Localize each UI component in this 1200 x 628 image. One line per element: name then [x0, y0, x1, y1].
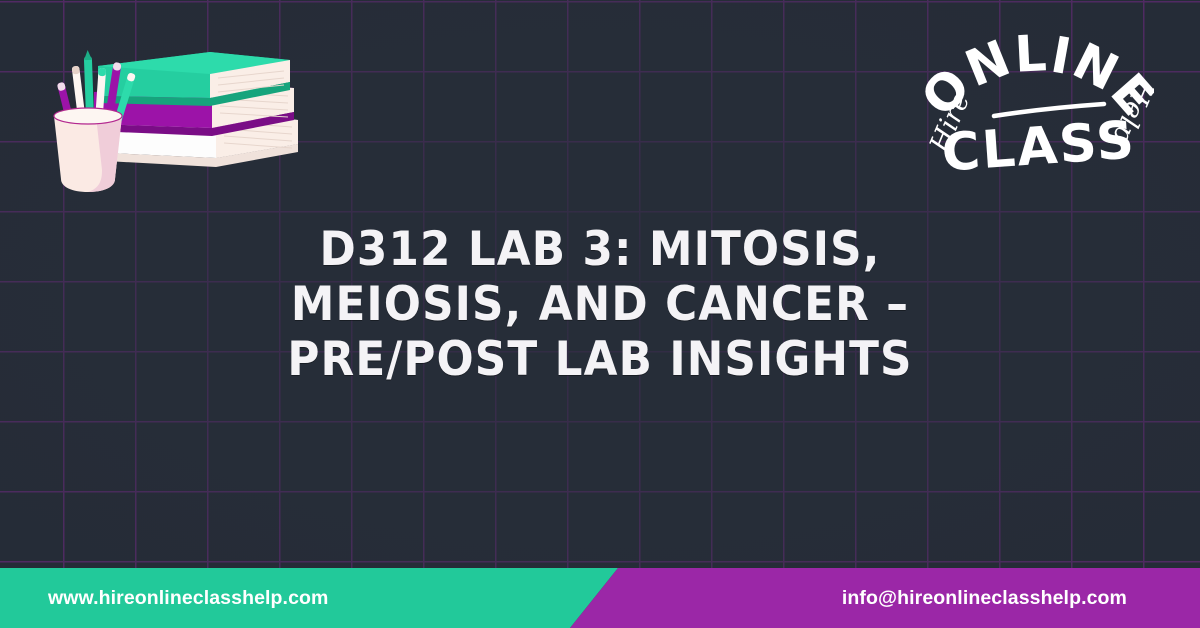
footer-bar: www.hireonlineclasshelp.com info@hireonl… — [0, 568, 1200, 628]
brand-logo: Hire ONLINE CLASS Help — [922, 28, 1154, 178]
logo-word-class: CLASS — [940, 110, 1138, 178]
website-url[interactable]: www.hireonlineclasshelp.com — [48, 568, 328, 628]
headline-line-3: PRE/POST LAB INSIGHTS — [182, 332, 1019, 387]
contact-email[interactable]: info@hireonlineclasshelp.com — [842, 568, 1127, 628]
headline-line-1: D312 LAB 3: MITOSIS, — [182, 222, 1019, 277]
headline-line-2: MEIOSIS, AND CANCER – — [182, 277, 1019, 332]
logo-svg: Hire ONLINE CLASS Help — [922, 28, 1154, 178]
stack-of-books-illustration — [26, 34, 306, 202]
promo-banner: Hire ONLINE CLASS Help D312 LAB 3: MITOS… — [0, 0, 1200, 628]
pen-cup-icon — [54, 108, 122, 192]
books-svg — [26, 34, 306, 202]
page-title: D312 LAB 3: MITOSIS, MEIOSIS, AND CANCER… — [0, 222, 1200, 387]
